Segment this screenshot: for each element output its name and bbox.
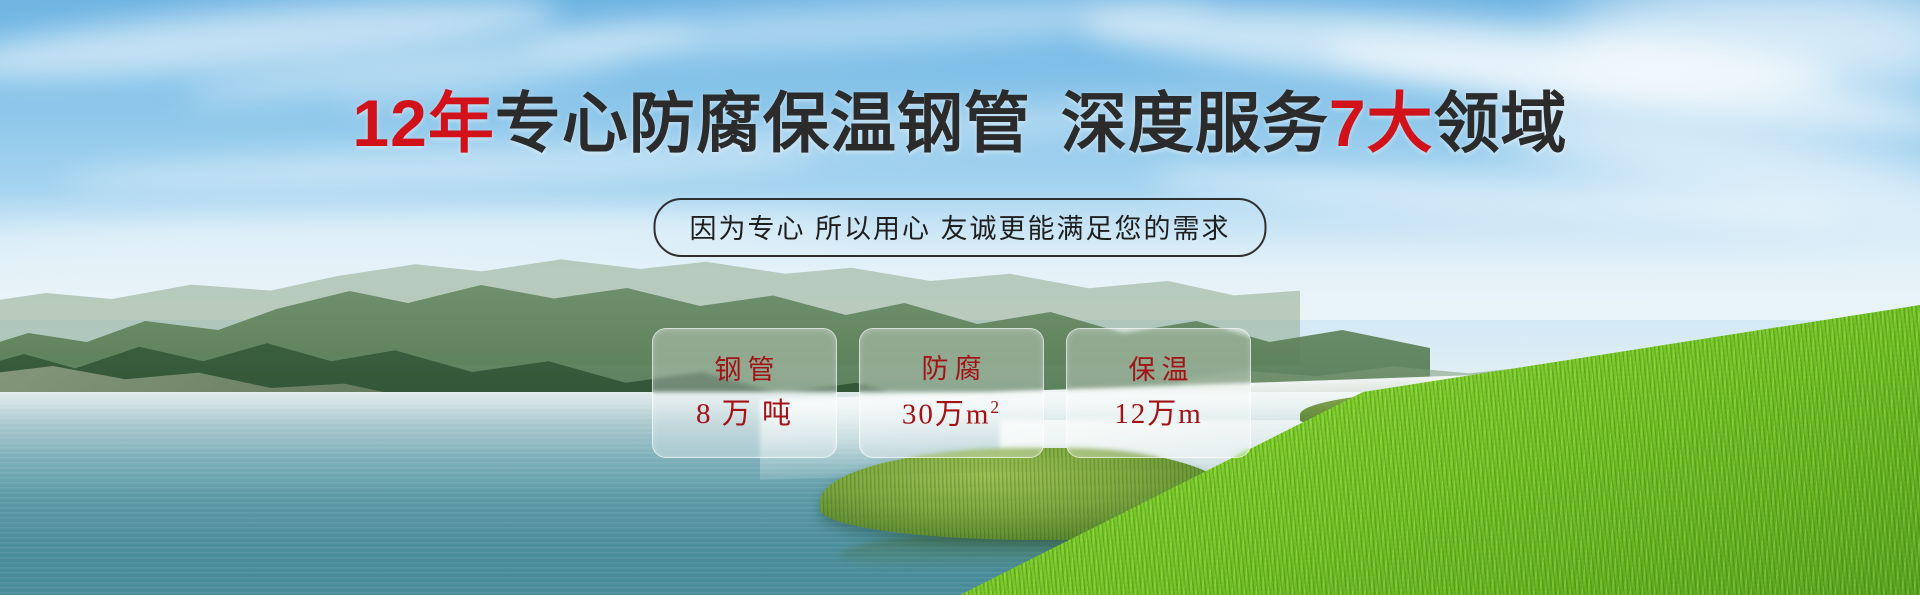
stat-card-value: 8 万 吨 (696, 400, 793, 429)
banner-headline: 12年专心防腐保温钢管深度服务7大领域 (0, 90, 1920, 156)
stat-value-text: 30万m (902, 399, 991, 431)
headline-years: 12年 (352, 86, 494, 160)
banner-subtitle-text: 因为专心 所以用心 友诚更能满足您的需求 (689, 214, 1230, 244)
stat-card-label: 保温 (1123, 357, 1195, 384)
headline-service: 深度服务 (1061, 86, 1329, 160)
stat-card-anticorrosion[interactable]: 防腐 30万m2 (859, 328, 1044, 458)
stat-card-label: 钢管 (709, 357, 781, 384)
headline-main: 专心防腐保温钢管 (495, 86, 1031, 160)
stat-card-insulation[interactable]: 保温 12万m (1066, 328, 1251, 458)
stat-card-steel-pipe[interactable]: 钢管 8 万 吨 (652, 328, 837, 458)
stat-card-value: 12万m (1114, 400, 1203, 429)
banner-subtitle-pill: 因为专心 所以用心 友诚更能满足您的需求 (653, 198, 1266, 257)
stat-value-superscript: 2 (990, 397, 1001, 417)
hero-banner: 12年专心防腐保温钢管深度服务7大领域 因为专心 所以用心 友诚更能满足您的需求… (0, 0, 1920, 595)
headline-domains-text: 领域 (1434, 86, 1568, 160)
stat-card-label: 防腐 (916, 356, 988, 383)
stat-value-text: 8 万 吨 (696, 398, 793, 430)
stat-value-text: 12万m (1114, 398, 1203, 430)
stat-card-value: 30万m2 (902, 399, 1001, 430)
headline-domains-number: 7大 (1329, 86, 1434, 160)
stat-card-group: 钢管 8 万 吨 防腐 30万m2 保温 12万m (652, 328, 1251, 458)
